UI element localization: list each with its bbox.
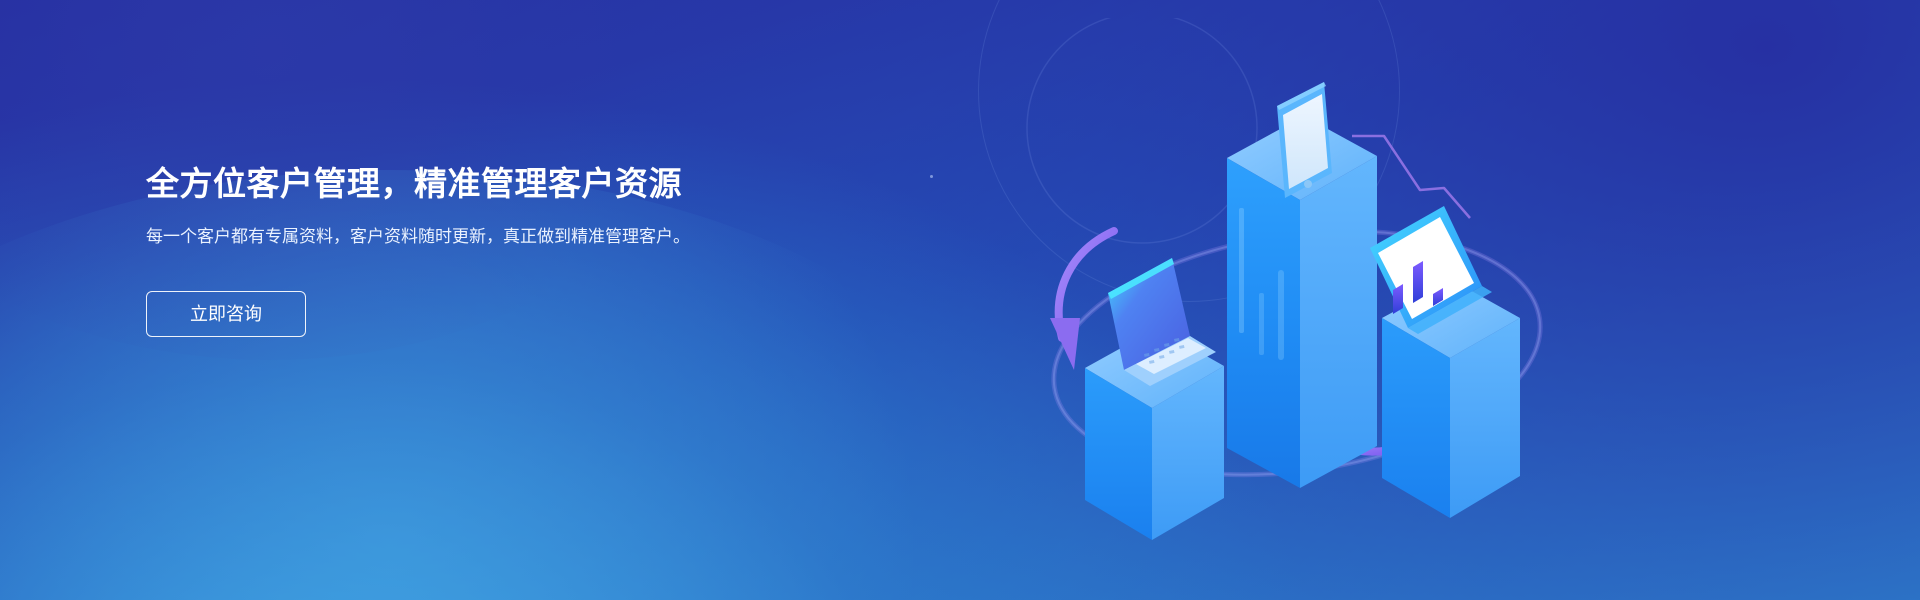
- orbit-ellipse: [1038, 202, 1556, 504]
- laptop-icon: [1108, 258, 1216, 386]
- pillar-left: [1085, 328, 1224, 540]
- connector-line: [1352, 136, 1470, 218]
- monitor-bar-chart: [1393, 261, 1443, 314]
- hero-copy-block: 全方位客户管理，精准管理客户资源 每一个客户都有专属资料，客户资料随时更新，真正…: [146, 163, 766, 337]
- background-speck-dot: [930, 175, 933, 178]
- arrow-left-icon: [1050, 231, 1114, 370]
- illustration-background-circle: [1027, 18, 1257, 243]
- monitor-icon: [1370, 206, 1492, 334]
- hero-banner: 全方位客户管理，精准管理客户资源 每一个客户都有专属资料，客户资料随时更新，真正…: [0, 0, 1920, 600]
- arrow-right-icon: [1342, 418, 1442, 458]
- hero-illustration: [1012, 18, 1572, 578]
- tablet-icon: [1277, 82, 1332, 198]
- consult-now-button[interactable]: 立即咨询: [146, 291, 306, 337]
- background-arc-decoration: [978, 0, 1400, 302]
- cta-container: 立即咨询: [146, 291, 766, 337]
- pillar-center: [1227, 116, 1377, 488]
- pillar-right: [1382, 280, 1520, 518]
- page-title: 全方位客户管理，精准管理客户资源: [146, 163, 766, 204]
- hero-subtext: 每一个客户都有专属资料，客户资料随时更新，真正做到精准管理客户。: [146, 224, 734, 250]
